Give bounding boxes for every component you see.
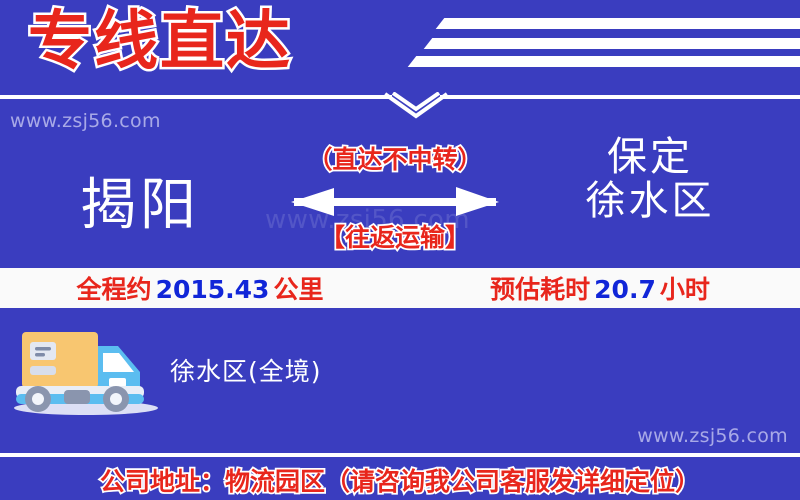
coverage-area-text: 徐水区(全境)	[170, 352, 322, 388]
route-origin-city: 揭阳	[0, 160, 280, 241]
footer-divider	[0, 453, 800, 457]
stat-distance-unit: 公里	[273, 275, 323, 304]
header-stripe-1	[436, 18, 800, 29]
chevron-down-icon	[383, 92, 449, 120]
stats-band: 全程约2015.43公里 预估耗时20.7小时	[0, 268, 800, 308]
company-address-text: 公司地址：物流园区（请咨询我公司客服发详细定位）	[100, 467, 700, 496]
stat-duration-unit: 小时	[660, 275, 710, 304]
poster-header: 专线直达	[0, 0, 800, 99]
watermark-bottom-right: www.zsj56.com	[637, 425, 788, 447]
header-stripe-3	[408, 56, 800, 67]
header-stripe-2	[424, 38, 800, 49]
logistics-route-poster: 专线直达 www.zsj56.com www.zsj56.com www.zsj…	[0, 0, 800, 500]
stat-distance: 全程约2015.43公里	[0, 270, 400, 306]
stat-duration-value: 20.7	[590, 275, 660, 304]
badge-direct-no-transfer: （直达不中转）	[290, 140, 500, 176]
header-divider-left	[0, 95, 392, 99]
coverage-row: 徐水区(全境)	[0, 312, 800, 422]
stat-duration: 预估耗时20.7小时	[400, 270, 800, 306]
poster-footer: 公司地址：物流园区（请咨询我公司客服发详细定位）	[0, 462, 800, 498]
stat-distance-value: 2015.43	[152, 275, 274, 304]
bidirectional-arrow-icon	[288, 182, 502, 222]
route-destination-district: 徐水区	[500, 179, 800, 224]
badge-round-trip: 【往返运输】	[290, 218, 500, 254]
stat-duration-label: 预估耗时	[490, 275, 590, 304]
header-divider-right	[440, 95, 800, 99]
route-destination: 保定 徐水区	[500, 136, 800, 224]
route-destination-city: 保定	[500, 136, 800, 179]
delivery-truck-icon	[8, 320, 168, 418]
stat-distance-label: 全程约	[77, 275, 152, 304]
page-title: 专线直达	[28, 2, 292, 82]
watermark-top-left: www.zsj56.com	[10, 110, 161, 132]
